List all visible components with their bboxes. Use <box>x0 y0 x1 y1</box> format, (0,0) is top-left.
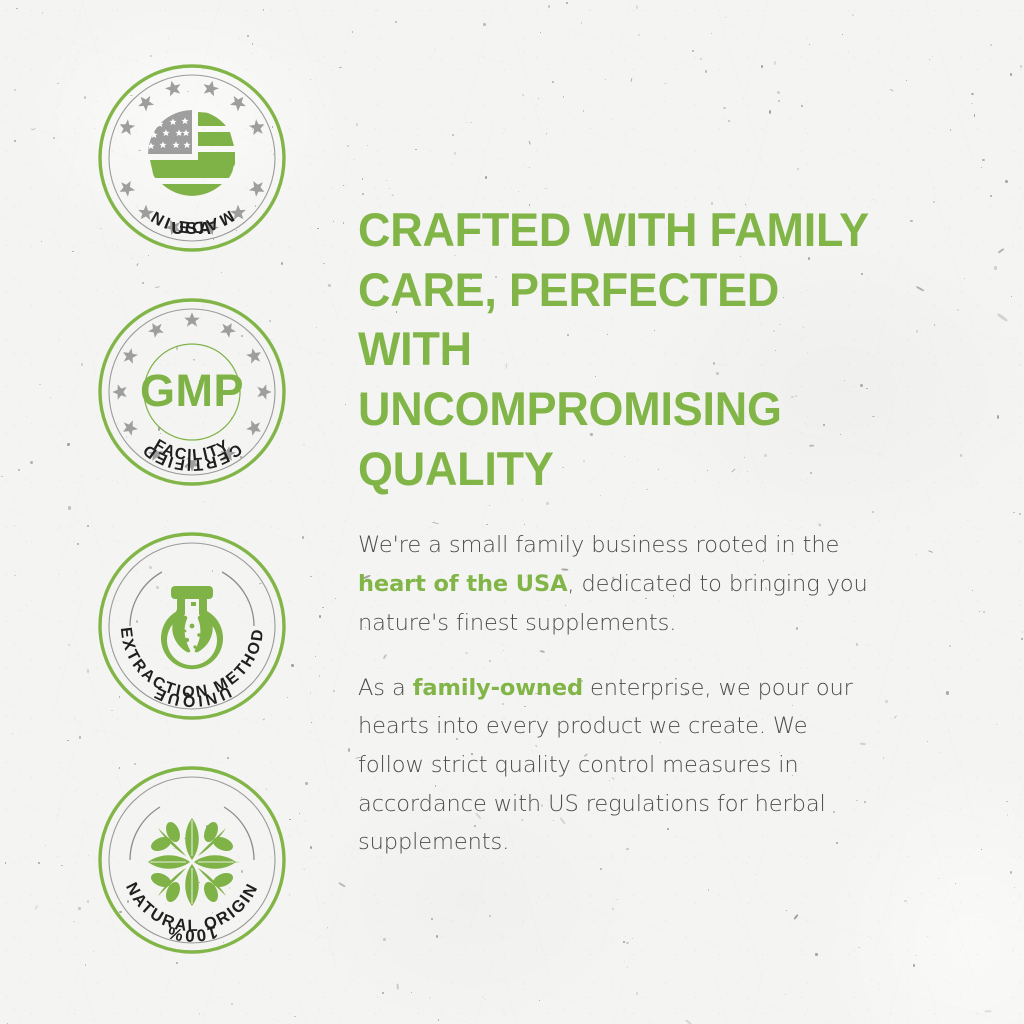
body-text: As a <box>358 675 413 701</box>
gmp-center-label: GMP <box>140 365 244 416</box>
body-text: We're a small family business rooted in … <box>358 532 839 558</box>
emphasis-text: family-owned <box>413 675 583 701</box>
body-text: enterprise, we pour our hearts into ever… <box>358 675 853 856</box>
page-title: CRAFTED WITH FAMILY CARE, PERFECTED WITH… <box>358 200 889 498</box>
decor-arc-right <box>222 572 254 626</box>
body-paragraph-2: As a family-owned enterprise, we pour ou… <box>358 669 878 862</box>
text-content-column: CRAFTED WITH FAMILY CARE, PERFECTED WITH… <box>358 200 914 862</box>
badge-star-ring <box>116 79 267 237</box>
badge-natural-origin: 100% NATURAL ORIGIN <box>96 764 288 956</box>
flask-with-leaves-icon <box>161 586 223 669</box>
trust-badge-column: MADE IN USA <box>96 62 288 998</box>
badge-unique-extraction-method: UNIQUE EXTRACTION METHOD <box>96 530 288 722</box>
body-paragraph-1: We're a small family business rooted in … <box>358 526 878 642</box>
promo-panel: MADE IN USA <box>0 0 1024 1024</box>
leaf-rosette-icon <box>148 818 240 906</box>
badge-made-in-usa: MADE IN USA <box>96 62 288 254</box>
badge-bottom-label: USA <box>171 218 212 238</box>
decor-arc-left <box>130 807 160 860</box>
badge-inner-ring <box>109 75 275 241</box>
emphasis-text: heart of the USA <box>358 571 567 597</box>
decor-arc-left <box>130 572 162 626</box>
badge-gmp-certified: CERTIFIED GMP FACILITY <box>96 296 288 488</box>
usa-flag-circle-icon <box>147 110 235 196</box>
decor-arc-right <box>224 807 254 860</box>
